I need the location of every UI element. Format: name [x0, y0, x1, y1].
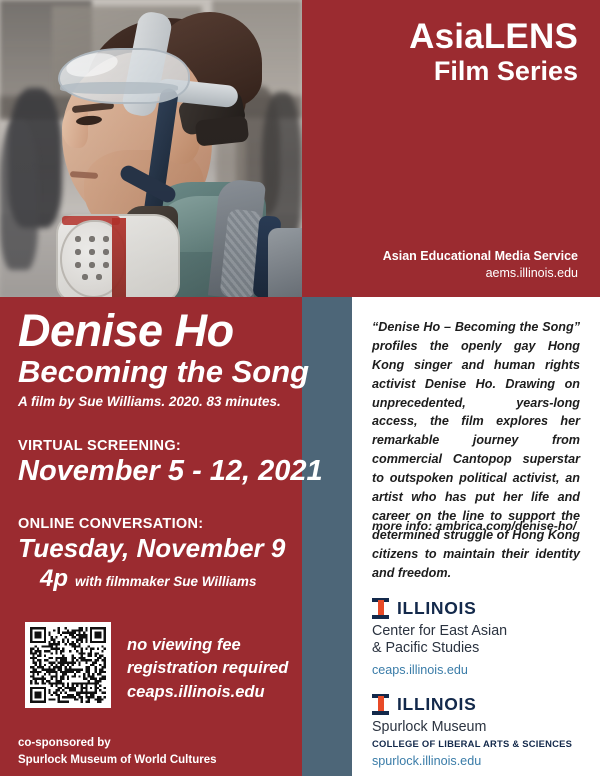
ceaps-url[interactable]: ceaps.illinois.edu — [372, 663, 507, 677]
illinois-block-i-icon — [372, 694, 389, 715]
cosponsor-block: co-sponsored by Spurlock Museum of World… — [18, 735, 217, 768]
cosponsor-name: Spurlock Museum of World Cultures — [18, 752, 217, 769]
logo-block-spurlock: ILLINOIS Spurlock Museum COLLEGE OF LIBE… — [372, 694, 572, 768]
virtual-screening-block: VIRTUAL SCREENING: November 5 - 12, 2021 — [18, 438, 323, 487]
illinois-wordmark-line: ILLINOIS — [372, 598, 507, 619]
slate-divider-strip — [302, 297, 352, 776]
cosponsor-label: co-sponsored by — [18, 735, 217, 752]
online-conversation-block: ONLINE CONVERSATION: Tuesday, November 9… — [18, 516, 285, 593]
film-poster: AsiaLENS Film Series Asian Educational M… — [0, 0, 600, 776]
aems-url[interactable]: aems.illinois.edu — [383, 265, 578, 282]
film-title: Denise Ho — [18, 308, 309, 353]
registration-block: no viewing fee registration required cea… — [25, 622, 288, 708]
film-title-block: Denise Ho Becoming the Song A film by Su… — [18, 308, 309, 409]
film-credit: A film by Sue Williams. 2020. 83 minutes… — [18, 394, 309, 409]
college-line: COLLEGE OF LIBERAL ARTS & SCIENCES — [372, 738, 572, 749]
unit-name-line-1: Spurlock Museum — [372, 719, 572, 736]
conversation-label: ONLINE CONVERSATION: — [18, 516, 285, 532]
conversation-time: 4p — [40, 565, 68, 593]
conversation-date: Tuesday, November 9 — [18, 533, 285, 563]
conversation-time-row: 4p with filmmaker Sue Williams — [40, 565, 285, 593]
conversation-host: with filmmaker Sue Williams — [75, 574, 256, 589]
logo-block-ceaps: ILLINOIS Center for East Asian & Pacific… — [372, 598, 507, 677]
registration-text: no viewing fee registration required cea… — [127, 622, 288, 704]
illinois-block-i-icon — [372, 598, 389, 619]
unit-name-line-1: Center for East Asian — [372, 623, 507, 640]
registration-line-2: registration required — [127, 657, 288, 680]
photo-vignette — [0, 0, 302, 297]
film-subtitle: Becoming the Song — [18, 355, 309, 390]
illinois-wordmark-line: ILLINOIS — [372, 694, 572, 715]
registration-url[interactable]: ceaps.illinois.edu — [127, 681, 288, 704]
screening-dates: November 5 - 12, 2021 — [18, 455, 323, 487]
series-branding: AsiaLENS Film Series — [409, 18, 578, 87]
illinois-wordmark: ILLINOIS — [397, 598, 477, 619]
qr-code[interactable] — [25, 622, 111, 708]
aems-name: Asian Educational Media Service — [383, 248, 578, 265]
film-synopsis: “Denise Ho – Becoming the Song” profiles… — [372, 318, 580, 582]
series-subtitle: Film Series — [409, 56, 578, 87]
registration-line-1: no viewing fee — [127, 634, 288, 657]
aems-credit: Asian Educational Media Service aems.ill… — [383, 248, 578, 282]
spurlock-url[interactable]: spurlock.illinois.edu — [372, 754, 572, 768]
unit-name-line-2: & Pacific Studies — [372, 640, 507, 657]
series-name: AsiaLENS — [409, 18, 578, 55]
screening-label: VIRTUAL SCREENING: — [18, 438, 323, 454]
protester-photo — [0, 0, 302, 297]
illinois-wordmark: ILLINOIS — [397, 694, 477, 715]
more-info-link[interactable]: more info: ambrica.com/denise-ho/ — [372, 519, 584, 533]
